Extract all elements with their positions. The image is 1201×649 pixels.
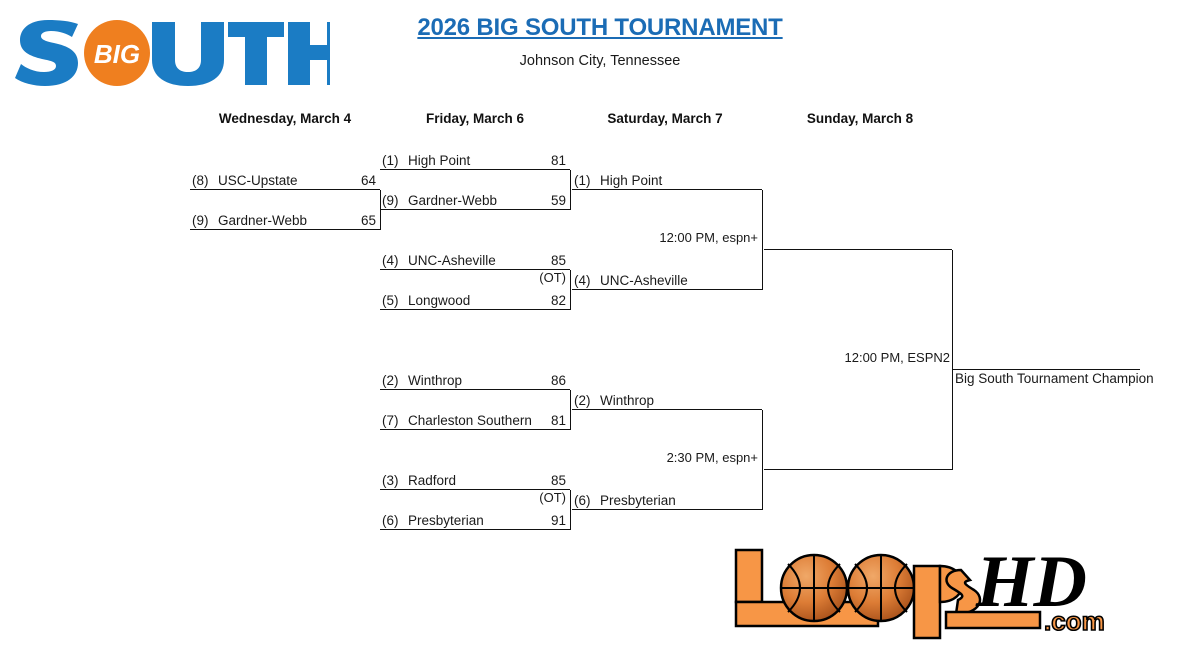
team-name: High Point [408,153,470,168]
championship-slot-bottom [764,449,952,470]
bracket-connector-qf2 [570,270,571,310]
team-score: 82 [551,293,566,308]
hoopshd-logo-svg: HD .com [718,540,1138,644]
bracket-connector-sf2 [762,410,763,510]
matchup-slot-sf2-top: (2) Winthrop [572,389,762,410]
champion-slot [952,349,1140,370]
team-name: Charleston Southern [408,413,532,428]
bracket-connector-qf4 [570,490,571,530]
seed: (8) [192,173,209,188]
hoopshd-logo: HD .com [718,540,1138,644]
bracket-connector-sf1 [762,190,763,290]
seed: (4) [574,273,591,288]
hoopshd-dotcom-text: .com [1044,606,1105,636]
team-score: 81 [551,153,566,168]
seed: (2) [574,393,591,408]
seed: (7) [382,413,399,428]
matchup-slot-qf3-top: (2) Winthrop 86 [380,369,570,390]
matchup-slot-sf1-top: (1) High Point [572,169,762,190]
seed: (5) [382,293,399,308]
team-name: USC-Upstate [218,173,298,188]
team-score: 81 [551,413,566,428]
matchup-slot-qf3-bottom: (7) Charleston Southern 81 [380,409,570,430]
team-score: 91 [551,513,566,528]
seed: (1) [574,173,591,188]
seed: (2) [382,373,399,388]
team-name: Winthrop [408,373,462,388]
team-score: 64 [361,173,376,188]
team-name: Gardner-Webb [408,193,497,208]
overtime-marker-qf2: (OT) [470,270,566,285]
matchup-slot-qf1-top: (1) High Point 81 [380,149,570,170]
championship-slot-top [764,229,952,250]
team-name: Longwood [408,293,470,308]
game-time-sf1: 12:00 PM, espn+ [600,230,758,245]
team-name: Presbyterian [408,513,484,528]
matchup-slot-qf1-bottom: (9) Gardner-Webb 59 [380,189,570,210]
overtime-marker-qf4: (OT) [470,490,566,505]
matchup-slot-r1-g1-bottom: (9) Gardner-Webb 65 [190,209,380,230]
team-name: Gardner-Webb [218,213,307,228]
matchup-slot-qf4-bottom: (6) Presbyterian 91 [380,509,570,530]
matchup-slot-r1-g1-top: (8) USC-Upstate 64 [190,169,380,190]
seed: (3) [382,473,399,488]
team-score: 85 [551,473,566,488]
matchup-slot-qf2-top: (4) UNC-Asheville 85 [380,249,570,270]
seed: (9) [382,193,399,208]
seed: (1) [382,153,399,168]
game-time-championship: 12:00 PM, ESPN2 [790,350,950,365]
team-score: 86 [551,373,566,388]
team-name: Winthrop [600,393,654,408]
team-score: 65 [361,213,376,228]
team-score: 59 [551,193,566,208]
matchup-slot-qf2-bottom: (5) Longwood 82 [380,289,570,310]
bracket-connector-qf3 [570,390,571,430]
team-name: UNC-Asheville [600,273,688,288]
seed: (6) [574,493,591,508]
seed: (9) [192,213,209,228]
team-name: Radford [408,473,456,488]
champion-label: Big South Tournament Champion [955,371,1154,386]
matchup-slot-sf2-bottom: (6) Presbyterian [572,489,762,510]
team-score: 85 [551,253,566,268]
seed: (6) [382,513,399,528]
game-time-sf2: 2:30 PM, espn+ [600,450,758,465]
matchup-slot-qf4-top: (3) Radford 85 [380,469,570,490]
matchup-slot-sf1-bottom: (4) UNC-Asheville [572,269,762,290]
seed: (4) [382,253,399,268]
team-name: High Point [600,173,662,188]
team-name: UNC-Asheville [408,253,496,268]
team-name: Presbyterian [600,493,676,508]
bracket-connector-qf1 [570,170,571,210]
